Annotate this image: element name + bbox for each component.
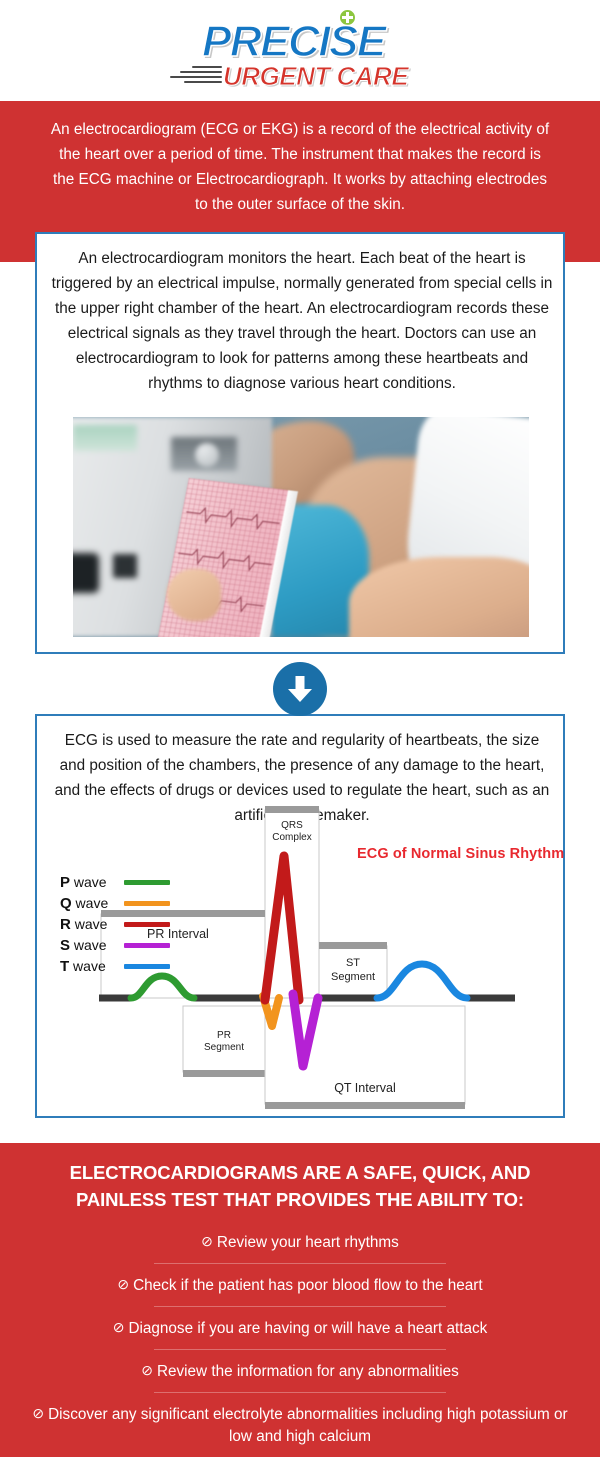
photo-machine-button: [113, 554, 137, 578]
legend-item-t: T wave: [60, 956, 180, 977]
benefits-list: ⊘Review your heart rhythms ⊘Check if the…: [20, 1221, 580, 1457]
list-item: ⊘Diagnose if you are having or will have…: [20, 1307, 580, 1349]
ecg-legend: P wave Q wave R wave S wave T wave: [60, 872, 180, 977]
list-item: ⊘Check if the patient has poor blood flo…: [20, 1264, 580, 1306]
list-item-label: Review the information for any abnormali…: [157, 1363, 459, 1380]
legend-swatch-t: [124, 964, 170, 969]
monitor-paragraph: An electrocardiogram monitors the heart.…: [51, 246, 553, 396]
legend-label-r: R wave: [60, 916, 124, 933]
legend-item-r: R wave: [60, 914, 180, 935]
photo-machine-screen: [73, 425, 137, 451]
legend-swatch-p: [124, 880, 170, 885]
benefits-section: ELECTROCARDIOGRAMS ARE A SAFE, QUICK, AN…: [0, 1143, 600, 1457]
scroll-down-arrow-button[interactable]: [273, 662, 327, 716]
legend-item-p: P wave: [60, 872, 180, 893]
legend-item-q: Q wave: [60, 893, 180, 914]
brand-logo[interactable]: PRECISE URGENT CARE: [170, 8, 430, 94]
brand-name-primary: PRECISE: [202, 20, 385, 64]
legend-label-s: S wave: [60, 937, 124, 954]
list-item-label: Diagnose if you are having or will have …: [128, 1320, 487, 1337]
check-circle-icon: ⊘: [32, 1405, 44, 1421]
st-label-line2: Segment: [331, 971, 375, 983]
annotation-st-segment: ST Segment: [319, 942, 387, 998]
legend-label-p: P wave: [60, 874, 124, 891]
legend-item-s: S wave: [60, 935, 180, 956]
intro-paragraph: An electrocardiogram (ECG or EKG) is a r…: [50, 117, 550, 217]
photo-machine-knob: [195, 443, 219, 467]
pr-segment-label-line1: PR: [217, 1030, 231, 1041]
page-header: PRECISE URGENT CARE: [0, 0, 600, 101]
list-item-label: Check if the patient has poor blood flow…: [133, 1277, 483, 1294]
legend-swatch-s: [124, 943, 170, 948]
arrow-down-icon: [286, 674, 314, 704]
photo-machine-shadow: [73, 553, 99, 593]
legend-swatch-q: [124, 901, 170, 906]
photo-doctor-hand: [349, 557, 529, 637]
list-item-label: Discover any significant electrolyte abn…: [48, 1406, 568, 1445]
annotation-pr-segment: PR Segment: [183, 1006, 265, 1077]
legend-label-q: Q wave: [60, 895, 124, 912]
list-item: ⊘Review the information for any abnormal…: [20, 1350, 580, 1392]
legend-swatch-r: [124, 922, 170, 927]
check-circle-icon: ⊘: [117, 1276, 129, 1292]
check-circle-icon: ⊘: [113, 1319, 125, 1335]
qrs-label-line2: Complex: [272, 832, 311, 843]
list-item-label: Review your heart rhythms: [217, 1234, 399, 1251]
speed-lines-icon: [170, 66, 224, 88]
st-label-line1: ST: [346, 957, 360, 969]
ecg-photo: [73, 417, 529, 637]
monitor-info-card: An electrocardiogram monitors the heart.…: [35, 232, 565, 654]
ecg-t-wave: [377, 964, 467, 998]
qt-interval-label: QT Interval: [334, 1081, 396, 1095]
benefits-heading: ELECTROCARDIOGRAMS ARE A SAFE, QUICK, AN…: [30, 1159, 570, 1213]
brand-name-secondary: URGENT CARE: [223, 63, 408, 89]
check-circle-icon: ⊘: [141, 1362, 153, 1378]
list-item: ⊘Review your heart rhythms: [20, 1221, 580, 1263]
legend-label-t: T wave: [60, 958, 124, 975]
list-item: ⊘Discover any significant electrolyte ab…: [20, 1393, 580, 1457]
check-circle-icon: ⊘: [201, 1233, 213, 1249]
pr-segment-label-line2: Segment: [204, 1042, 244, 1053]
qrs-label-line1: QRS: [281, 820, 303, 831]
photo-doctor-thumb: [167, 569, 221, 621]
